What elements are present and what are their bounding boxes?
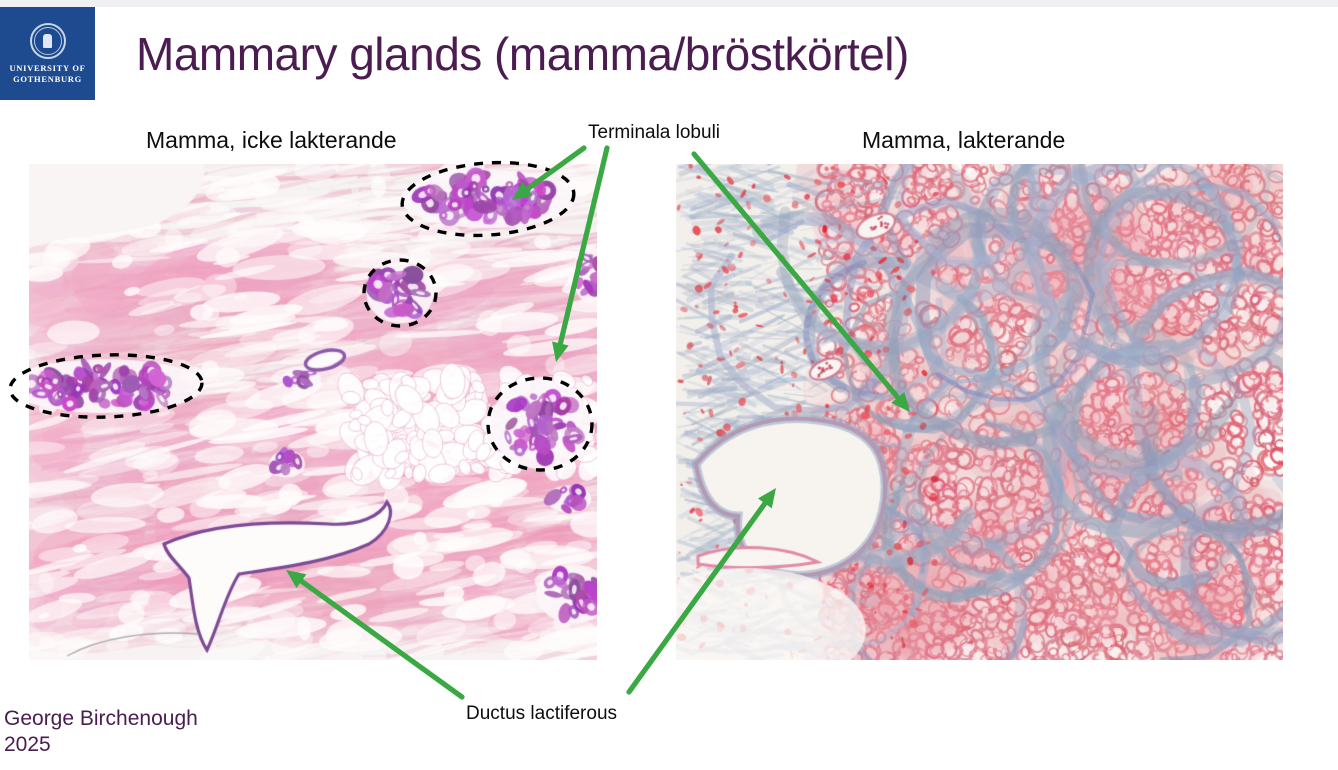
histology-non-lactating-mammary-gland	[29, 164, 597, 660]
top-band	[0, 0, 1338, 7]
footer-author: George Birchenough 2025	[4, 706, 198, 758]
caption-right-panel: Mamma, lakterande	[862, 126, 1065, 154]
label-terminala-lobuli: Terminala lobuli	[588, 119, 720, 147]
lactating-histology-canvas	[676, 164, 1283, 660]
label-ductus-lactiferous: Ductus lactiferous	[466, 700, 617, 728]
histology-lactating-mammary-gland	[676, 164, 1283, 660]
footer-year: 2025	[4, 732, 198, 758]
seal-figure-icon	[43, 34, 52, 48]
logo-line-1: UNIVERSITY OF	[9, 63, 85, 74]
university-seal-icon	[30, 23, 66, 59]
slide-root: UNIVERSITY OF GOTHENBURG Mammary glands …	[0, 0, 1338, 770]
caption-left-panel: Mamma, icke lakterande	[146, 126, 397, 154]
logo-line-2: GOTHENBURG	[13, 74, 82, 85]
non-lactating-histology-canvas	[29, 164, 597, 660]
footer-author-name: George Birchenough	[4, 706, 198, 732]
university-logo: UNIVERSITY OF GOTHENBURG	[0, 7, 95, 100]
page-title: Mammary glands (mamma/bröstkörtel)	[136, 25, 1236, 83]
